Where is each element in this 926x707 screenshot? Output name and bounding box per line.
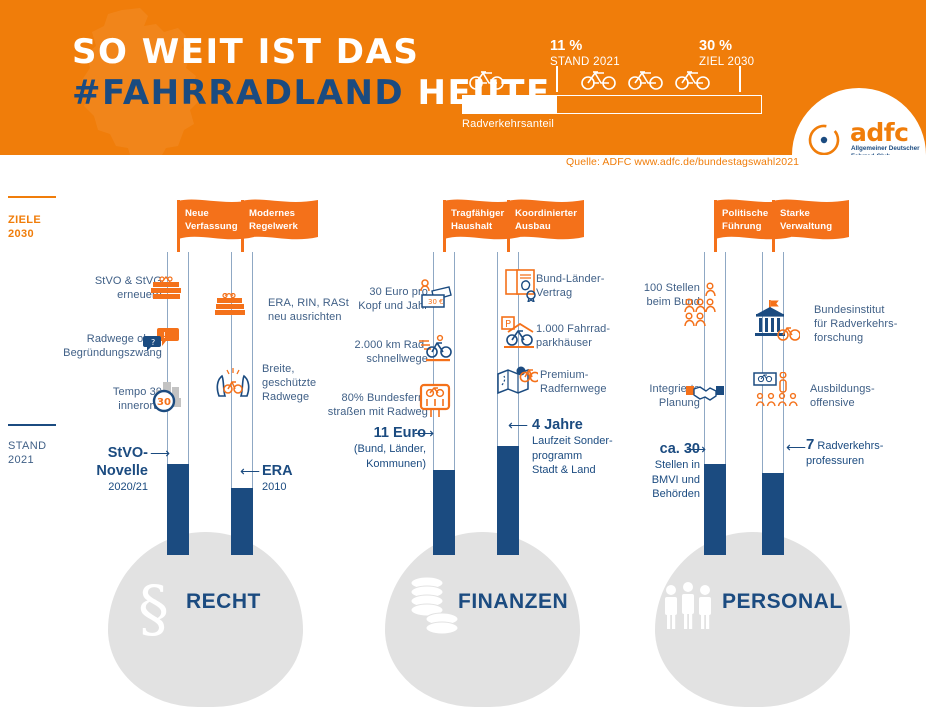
gauge-fill bbox=[463, 96, 557, 113]
svg-text:€: € bbox=[439, 298, 443, 306]
milestone-label: Bundesinstitut für Radverkehrs- forschun… bbox=[814, 303, 918, 345]
pole-fill bbox=[433, 470, 456, 555]
headline-line-2: #FAHRRADLAND HEUTE bbox=[72, 73, 492, 114]
axis-label-current: STAND 2021 bbox=[8, 440, 46, 467]
source-line: Quelle: ADFC www.adfc.de/bundestagswahl2… bbox=[566, 156, 799, 168]
svg-text:P: P bbox=[505, 319, 511, 330]
base-label-7-professuren: 7 Radverkehrs- professuren bbox=[806, 438, 916, 468]
group-label-personal: PERSONAL bbox=[722, 590, 843, 614]
fast-cyclist-icon bbox=[418, 334, 452, 362]
adfc-wordmark: adfc bbox=[850, 120, 908, 145]
pole-fill bbox=[167, 464, 190, 555]
milestone-label: StVO & StVG erneuern bbox=[58, 274, 162, 302]
group-label-finanzen: FINANZEN bbox=[458, 590, 568, 614]
adfc-circle-dot-logo bbox=[806, 122, 842, 155]
coins-icon bbox=[408, 575, 462, 646]
bike-parking-icon: P bbox=[500, 316, 536, 350]
map-route-bike-icon bbox=[496, 365, 538, 397]
people-group-icon bbox=[678, 280, 724, 336]
gauge-current-value: 11 % bbox=[550, 38, 582, 54]
bicycle-icon bbox=[674, 68, 712, 95]
pointer-arrow-left-icon: ⟵ bbox=[240, 464, 260, 478]
infographic-root: SO WEIT IST DAS #FAHRRADLAND HEUTE 11 % … bbox=[0, 0, 926, 655]
headline-hashtag: #FAHRRADLAND bbox=[72, 73, 404, 113]
protected-bike-lane-icon bbox=[215, 366, 251, 398]
institute-building-icon bbox=[752, 300, 800, 344]
flag-label-tragfaehiger-haushalt: Tragfähiger Haushalt bbox=[451, 208, 515, 233]
flag-koordinierter-ausbau: Koordinierter Ausbau bbox=[508, 199, 582, 249]
base-label-11-euro: 11 Euro (Bund, Länder, Kommunen) bbox=[330, 424, 426, 471]
adfc-logo[interactable]: adfc Allgemeiner Deutscher Fahrrad-Club bbox=[780, 88, 926, 155]
radverkehrsanteil-gauge: 11 % STAND 2021 30 % ZIEL 2030 Radver bbox=[462, 38, 762, 138]
flag-label-neue-verfassung: Neue Verfassung bbox=[185, 208, 249, 233]
bicycle-icon bbox=[580, 68, 618, 95]
pointer-arrow-left-icon: ⟵ bbox=[786, 440, 806, 454]
speed-limit-30-icon: 30 bbox=[147, 378, 185, 414]
flag-starke-verwaltung: Starke Verwaltung bbox=[773, 199, 847, 249]
money-per-capita-icon: 30 € bbox=[418, 279, 452, 311]
flag-label-koordinierter-ausbau: Koordinierter Ausbau bbox=[515, 208, 579, 233]
adfc-tagline: Allgemeiner Deutscher Fahrrad-Club bbox=[851, 145, 920, 155]
gauge-tick-goal bbox=[739, 66, 741, 92]
gauge-goal-value: 30 % bbox=[699, 38, 732, 54]
contract-seal-icon bbox=[504, 268, 538, 302]
gauge-goal-label: ZIEL 2030 bbox=[699, 55, 754, 69]
bicycle-icon bbox=[627, 68, 665, 95]
gauge-track bbox=[462, 95, 762, 114]
headline-line-1: SO WEIT IST DAS bbox=[72, 32, 492, 73]
training-board-icon bbox=[752, 372, 802, 408]
svg-text:?: ? bbox=[151, 338, 155, 347]
law-books-icon bbox=[150, 276, 184, 304]
flag-modernes-regelwerk: Modernes Regelwerk bbox=[242, 199, 316, 249]
rulebooks-stack-icon bbox=[214, 293, 248, 323]
milestone-label: 2.000 km Rad- schnellwege bbox=[338, 338, 428, 366]
milestone-label: 1.000 Fahrrad- parkhäuser bbox=[536, 322, 644, 350]
pole-fill bbox=[231, 488, 254, 555]
milestone-label: 80% Bundesfern- straßen mit Radweg bbox=[324, 391, 428, 419]
bicycle-icon bbox=[468, 68, 506, 95]
handshake-icon bbox=[686, 381, 724, 403]
milestone-label: Ausbildungs- offensive bbox=[810, 382, 910, 410]
people-icon bbox=[662, 582, 718, 639]
flag-label-starke-verwaltung: Starke Verwaltung bbox=[780, 208, 844, 233]
pole-fill bbox=[497, 446, 520, 555]
paragraph-icon: § bbox=[136, 578, 180, 641]
pointer-arrow-right-icon: ⟶ bbox=[686, 442, 706, 456]
axis-rule-current bbox=[8, 424, 56, 426]
pole-fill bbox=[762, 473, 785, 555]
gauge-current-label: STAND 2021 bbox=[550, 55, 620, 69]
gauge-caption: Radverkehrsanteil bbox=[462, 118, 554, 130]
gauge-tick-current bbox=[556, 66, 558, 92]
svg-text:30: 30 bbox=[157, 397, 171, 408]
pole-fill bbox=[704, 464, 727, 555]
milestone-label: 30 Euro pro Kopf und Jahr bbox=[340, 285, 428, 313]
headline: SO WEIT IST DAS #FAHRRADLAND HEUTE bbox=[72, 32, 492, 114]
bike-road-sign-icon bbox=[419, 383, 451, 419]
group-label-recht: RECHT bbox=[186, 590, 261, 614]
logo-content: adfc Allgemeiner Deutscher Fahrrad-Club bbox=[806, 122, 926, 155]
svg-text:30: 30 bbox=[428, 298, 437, 306]
pointer-arrow-right-icon: ⟶ bbox=[150, 446, 170, 460]
axis-rule-goal bbox=[8, 196, 56, 198]
flag-label-modernes-regelwerk: Modernes Regelwerk bbox=[249, 208, 313, 233]
speech-bubbles-icon: ! ? bbox=[143, 326, 181, 354]
base-label-stvo: StVO- Novelle 2020/21 bbox=[76, 444, 148, 495]
pointer-arrow-left-icon: ⟵ bbox=[508, 418, 528, 432]
header-banner: SO WEIT IST DAS #FAHRRADLAND HEUTE 11 % … bbox=[0, 0, 926, 155]
pointer-arrow-right-icon: ⟶ bbox=[414, 426, 434, 440]
svg-text:§: § bbox=[138, 578, 169, 636]
svg-text:!: ! bbox=[163, 331, 166, 340]
axis-label-goal: ZIELE 2030 bbox=[8, 214, 41, 241]
